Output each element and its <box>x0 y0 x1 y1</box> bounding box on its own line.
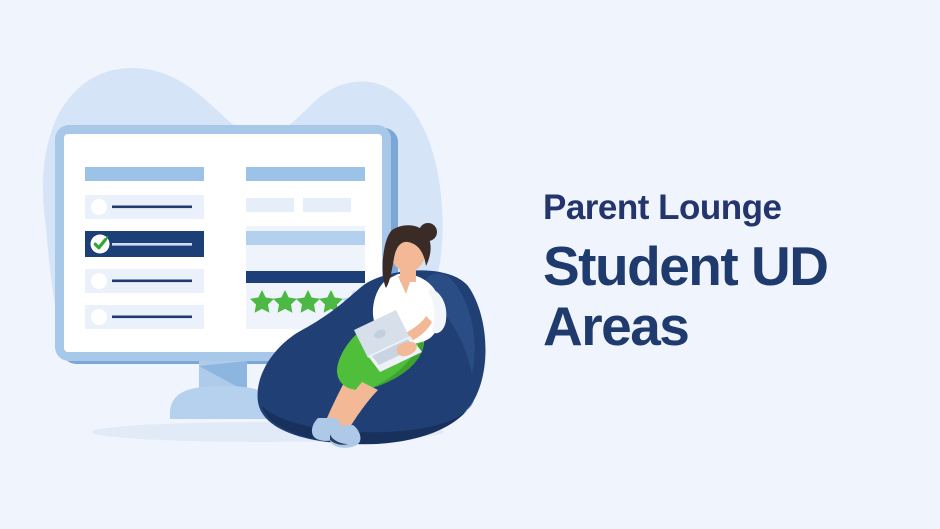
chip-left <box>246 198 294 212</box>
option-row-1[interactable] <box>85 195 204 219</box>
headline-line-2: Areas <box>543 296 913 356</box>
chip-right <box>303 198 351 212</box>
check-shield-icon[interactable] <box>91 235 110 254</box>
option-row-4-label-line <box>112 316 192 319</box>
radio-circle-icon[interactable] <box>91 199 107 215</box>
radio-circle-icon[interactable] <box>91 273 107 289</box>
left-header-bar <box>85 167 204 181</box>
option-row-2[interactable] <box>85 231 204 257</box>
right-sub-bar <box>246 231 365 245</box>
monitor-stand-foot <box>170 410 276 419</box>
option-row-1-label-line <box>112 206 192 209</box>
right-dark-bar <box>246 271 365 283</box>
text-block: Parent Lounge Student UD Areas <box>543 186 913 356</box>
right-header-bar <box>246 167 365 181</box>
headline-line-1: Student UD <box>543 236 913 296</box>
option-row-3[interactable] <box>85 269 204 293</box>
option-row-2-label-line <box>112 243 192 246</box>
option-row-3-label-line <box>112 280 192 283</box>
option-row-4[interactable] <box>85 305 204 329</box>
hero-illustration <box>0 0 520 529</box>
eyebrow-title: Parent Lounge <box>543 186 913 230</box>
banner: Parent Lounge Student UD Areas <box>0 0 940 529</box>
radio-circle-icon[interactable] <box>91 309 107 325</box>
person-hair-bun <box>419 223 437 241</box>
page-title: Student UD Areas <box>543 236 913 356</box>
